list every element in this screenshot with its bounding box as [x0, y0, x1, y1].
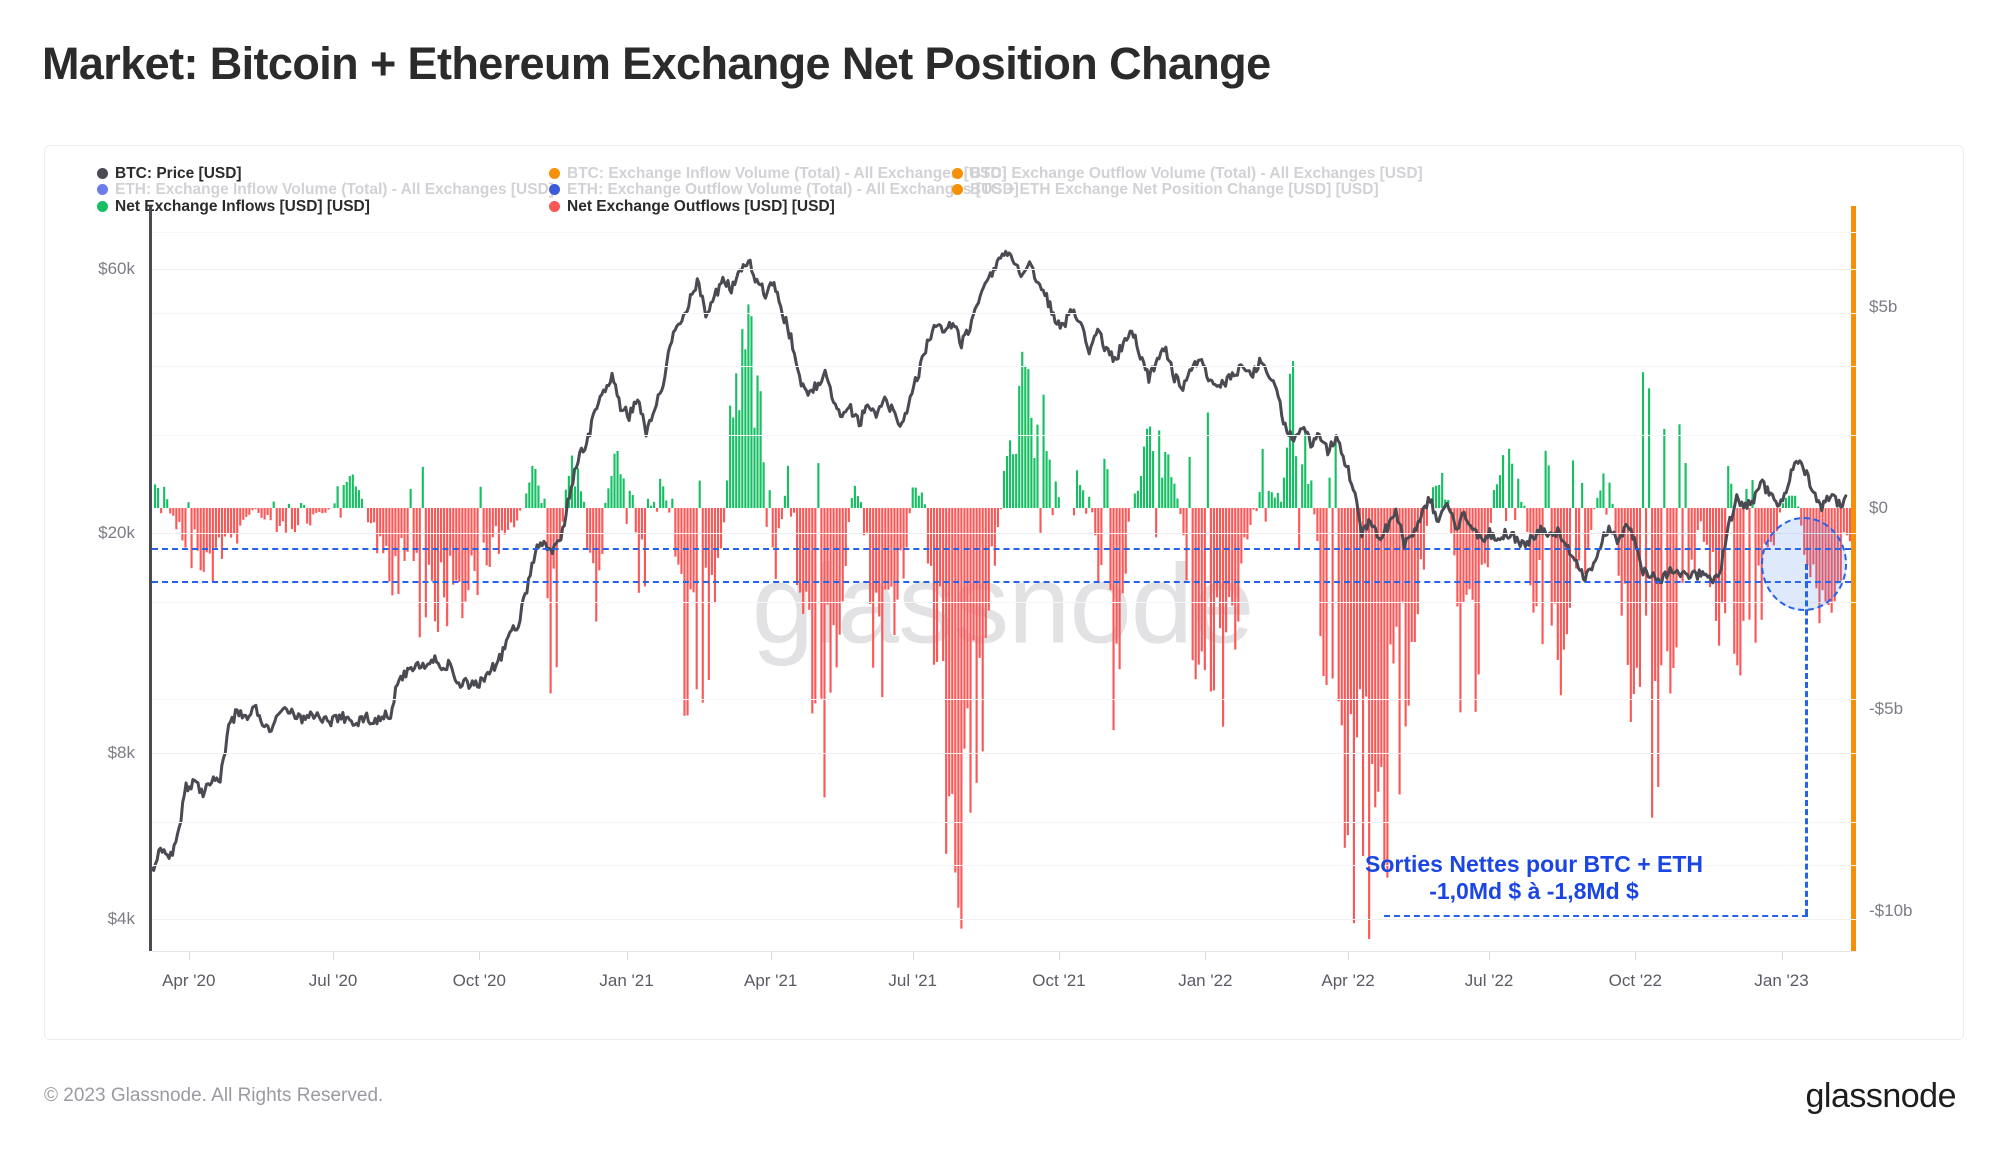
legend-item-label: BTC: Exchange Inflow Volume (Total) - Al… — [567, 166, 1007, 182]
gridline-major — [152, 919, 1856, 920]
x-axis-tick-mark — [1635, 951, 1636, 960]
x-axis-tick: Jan '23 — [1754, 971, 1808, 991]
x-axis-tick-mark — [1348, 951, 1349, 960]
chart-screenshot: Market: Bitcoin + Ethereum Exchange Net … — [0, 0, 2000, 1152]
x-axis-tick-mark — [627, 951, 628, 960]
gridline — [152, 313, 1856, 314]
legend-item-0[interactable]: BTC: Price [USD] — [97, 166, 242, 182]
legend-item-label: BTC + ETH Exchange Net Position Change [… — [970, 182, 1379, 198]
legend-item-5[interactable]: BTC + ETH Exchange Net Position Change [… — [952, 182, 1379, 198]
legend-swatch-icon — [97, 168, 108, 179]
legend-swatch-icon — [952, 184, 963, 195]
legend-swatch-icon — [549, 168, 560, 179]
x-axis-tick-mark — [1489, 951, 1490, 960]
plot-inner — [149, 206, 1856, 951]
x-axis-tick: Apr '20 — [162, 971, 215, 991]
y-axis-right-tick: $5b — [1869, 297, 1897, 317]
gridline — [152, 602, 1856, 603]
x-axis-tick-mark — [1782, 951, 1783, 960]
highlight-ellipse — [1761, 517, 1847, 611]
gridline — [152, 822, 1856, 823]
x-axis-tick-mark — [189, 951, 190, 960]
gridline — [152, 435, 1856, 436]
x-axis-tick-mark — [771, 951, 772, 960]
legend-item-label: ETH: Exchange Inflow Volume (Total) - Al… — [115, 182, 554, 198]
gridline-major — [152, 533, 1856, 534]
x-axis-tick-mark — [913, 951, 914, 960]
x-axis-tick: Oct '20 — [453, 971, 506, 991]
y-axis-right-tick: $0 — [1869, 498, 1888, 518]
y-axis-left-tick: $20k — [98, 523, 135, 543]
legend-item-3[interactable]: ETH: Exchange Inflow Volume (Total) - Al… — [97, 182, 554, 198]
price-line-layer — [149, 206, 1856, 951]
x-axis-tick: Jul '21 — [888, 971, 937, 991]
x-axis-tick-mark — [1205, 951, 1206, 960]
legend-item-4[interactable]: ETH: Exchange Outflow Volume (Total) - A… — [549, 182, 1019, 198]
legend-item-label: BTC: Exchange Outflow Volume (Total) - A… — [970, 166, 1423, 182]
footer-copyright: © 2023 Glassnode. All Rights Reserved. — [44, 1085, 383, 1107]
x-axis-tick-mark — [1059, 951, 1060, 960]
legend-swatch-icon — [97, 201, 108, 212]
legend-swatch-icon — [97, 184, 108, 195]
left-axis-line — [149, 206, 152, 951]
legend-item-1[interactable]: BTC: Exchange Inflow Volume (Total) - Al… — [549, 166, 1007, 182]
gridline — [152, 232, 1856, 233]
x-axis-tick: Jul '22 — [1465, 971, 1514, 991]
x-axis-tick: Oct '22 — [1609, 971, 1662, 991]
page-title: Market: Bitcoin + Ethereum Exchange Net … — [42, 38, 1271, 90]
btc-price-line — [152, 251, 1846, 870]
legend-swatch-icon — [952, 168, 963, 179]
annotation-line-2: -1,0Md $ à -1,8Md $ — [1354, 878, 1714, 905]
x-axis-tick: Apr '22 — [1321, 971, 1374, 991]
glassnode-logo: glassnode — [1805, 1077, 1956, 1116]
y-axis-left-tick: $8k — [108, 743, 135, 763]
annotation-text: Sorties Nettes pour BTC + ETH-1,0Md $ à … — [1354, 851, 1714, 905]
y-axis-left-tick: $4k — [108, 909, 135, 929]
gridline-major — [152, 753, 1856, 754]
annotation-line-1: Sorties Nettes pour BTC + ETH — [1354, 851, 1714, 878]
x-axis-tick-mark — [333, 951, 334, 960]
x-axis-tick: Apr '21 — [744, 971, 797, 991]
gridline — [152, 699, 1856, 700]
gridline — [152, 366, 1856, 367]
annotation-hline-lower — [152, 581, 1851, 583]
gridline-major — [152, 269, 1856, 270]
annotation-hline-upper — [152, 548, 1851, 550]
y-axis-right-tick: -$10b — [1869, 901, 1912, 921]
x-axis-tick: Jul '20 — [309, 971, 358, 991]
legend-swatch-icon — [549, 184, 560, 195]
plot-area: glassnode $60k$20k$8k$4k$5b$0-$5b-$10bAp… — [149, 206, 1856, 951]
x-axis-tick: Oct '21 — [1032, 971, 1085, 991]
x-axis-tick: Jan '21 — [599, 971, 653, 991]
legend-item-label: BTC: Price [USD] — [115, 166, 242, 182]
y-axis-right-tick: -$5b — [1869, 699, 1903, 719]
annotation-baseline — [1384, 915, 1808, 917]
chart-card: BTC: Price [USD]BTC: Exchange Inflow Vol… — [44, 145, 1964, 1040]
y-axis-left-tick: $60k — [98, 259, 135, 279]
x-axis-tick: Jan '22 — [1178, 971, 1232, 991]
right-axis-line — [1851, 206, 1856, 951]
x-axis-line — [152, 951, 1856, 952]
x-axis-tick-mark — [479, 951, 480, 960]
legend-item-2[interactable]: BTC: Exchange Outflow Volume (Total) - A… — [952, 166, 1423, 182]
annotation-vline — [1805, 564, 1808, 914]
